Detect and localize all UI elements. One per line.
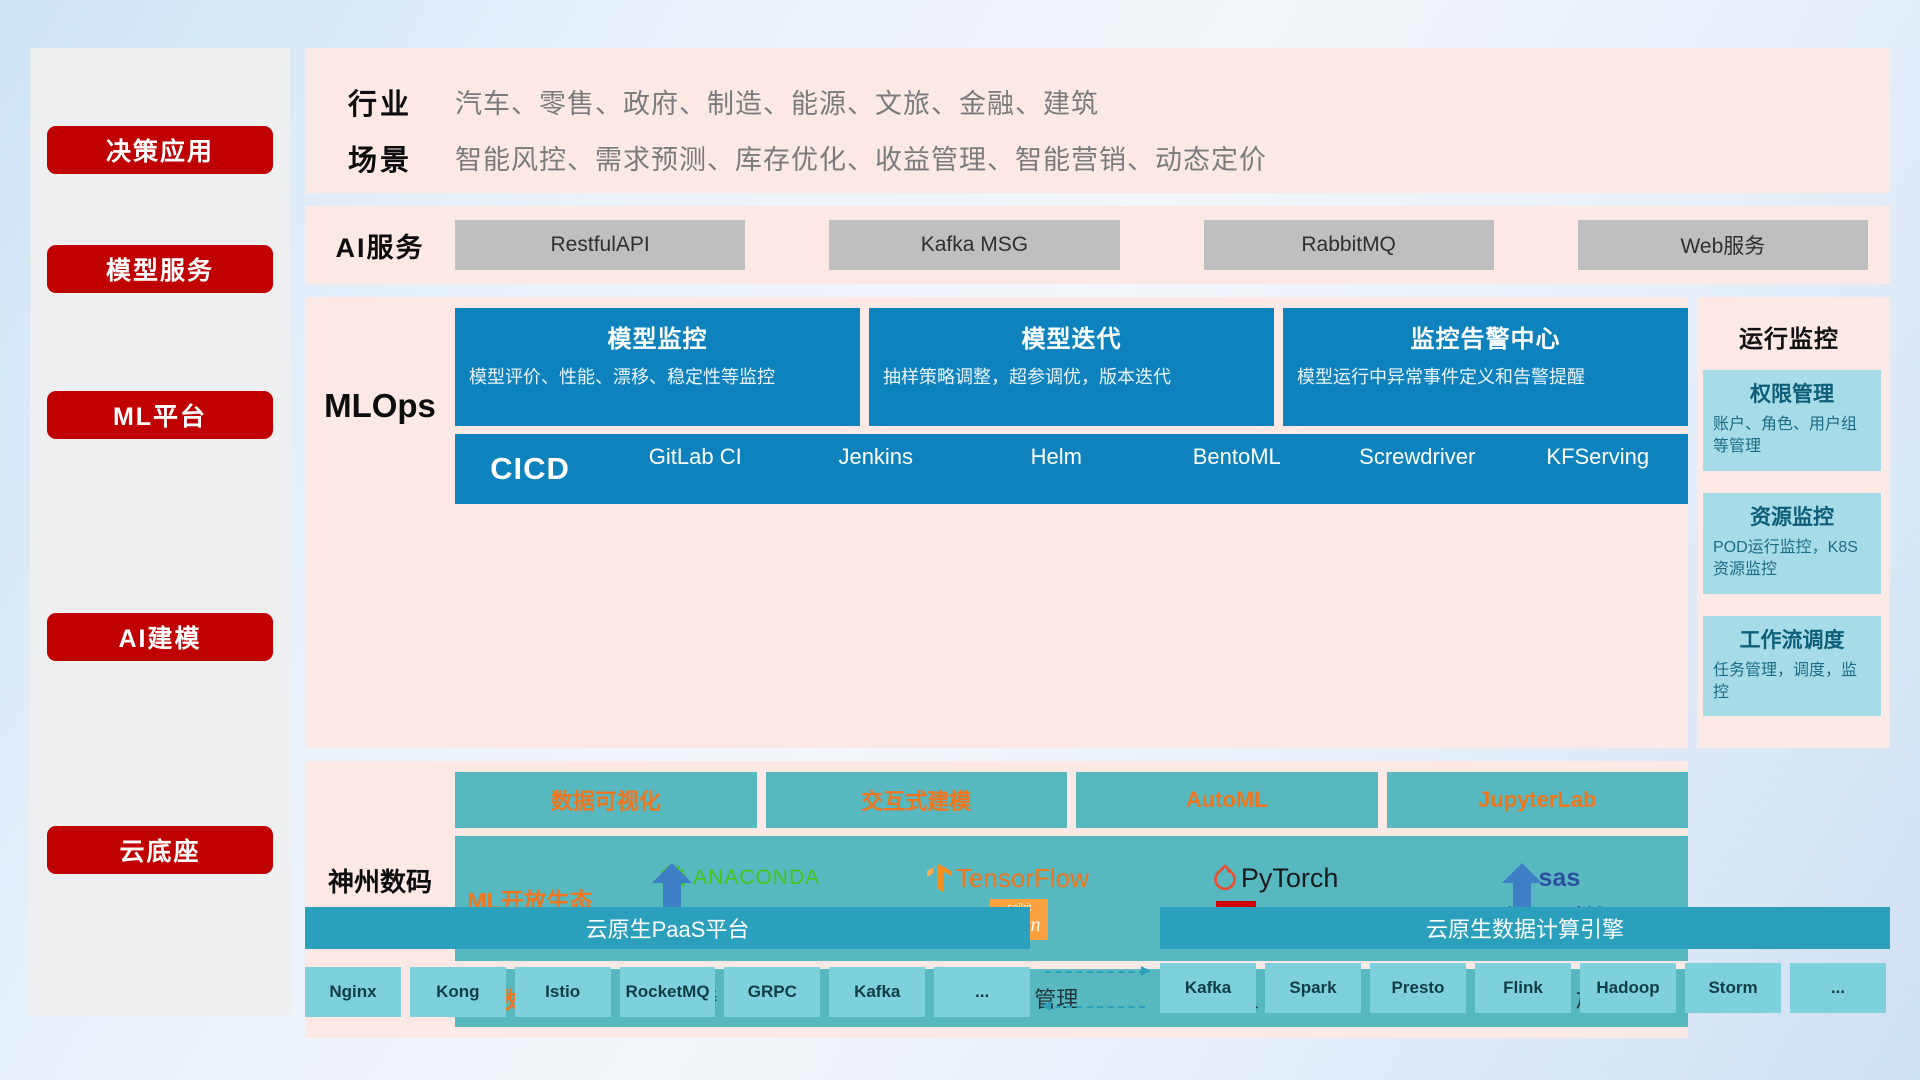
chip-presto[interactable]: Presto bbox=[1370, 963, 1466, 1013]
card-desc: 抽样策略调整，超参调优，版本迭代 bbox=[883, 364, 1260, 390]
card-title: 模型监控 bbox=[469, 319, 846, 354]
monitoring-card-permission[interactable]: 权限管理 账户、角色、用户组等管理 bbox=[1703, 370, 1881, 471]
chip-kafka-r[interactable]: Kafka bbox=[1160, 963, 1256, 1013]
scene-key: 场景 bbox=[305, 137, 455, 179]
monitoring-card-workflow[interactable]: 工作流调度 任务管理，调度，监控 bbox=[1703, 616, 1881, 717]
tab-interactive-modeling[interactable]: 交互式建模 bbox=[766, 772, 1068, 828]
industry-row: 行业 汽车、零售、政府、制造、能源、文旅、金融、建筑 bbox=[305, 74, 1890, 130]
ai-service-band: AI服务 RestfulAPI Kafka MSG RabbitMQ Web服务 bbox=[305, 206, 1890, 284]
cicd-item-jenkins[interactable]: Jenkins bbox=[786, 445, 967, 493]
scene-row: 场景 智能风控、需求预测、库存优化、收益管理、智能营销、动态定价 bbox=[305, 130, 1890, 186]
rail-label: 决策应用 bbox=[106, 132, 214, 168]
cicd-title: CICD bbox=[455, 451, 605, 487]
mlops-card-model-monitor[interactable]: 模型监控 模型评价、性能、漂移、稳定性等监控 bbox=[455, 308, 860, 426]
rail-item-ml-platform[interactable]: ML平台 bbox=[47, 391, 273, 439]
cloud-engine-chips: Kafka Spark Presto Flink Hadoop Storm ..… bbox=[1160, 963, 1890, 1013]
monitoring-sidebar: 运行监控 权限管理 账户、角色、用户组等管理 资源监控 POD运行监控，K8S资… bbox=[1697, 297, 1890, 748]
rail-label: AI建模 bbox=[118, 619, 201, 655]
dashed-arrow-right-icon bbox=[1141, 966, 1151, 976]
chip-grpc[interactable]: GRPC bbox=[724, 967, 820, 1017]
cloud-data-engine-bar[interactable]: 云原生数据计算引擎 bbox=[1160, 907, 1890, 949]
chip-storm[interactable]: Storm bbox=[1685, 963, 1781, 1013]
card-desc: 账户、角色、用户组等管理 bbox=[1713, 414, 1871, 459]
card-title: 资源监控 bbox=[1713, 501, 1871, 531]
ai-service-cell-rabbitmq[interactable]: RabbitMQ bbox=[1204, 220, 1494, 270]
card-title: 监控告警中心 bbox=[1297, 319, 1674, 354]
mlops-card-model-iteration[interactable]: 模型迭代 抽样策略调整，超参调优，版本迭代 bbox=[869, 308, 1274, 426]
chip-rocketmq[interactable]: RocketMQ bbox=[620, 967, 716, 1017]
card-desc: 任务管理，调度，监控 bbox=[1713, 660, 1871, 705]
ai-service-key: AI服务 bbox=[305, 226, 455, 265]
band-gap bbox=[305, 193, 1890, 206]
dashed-arrow-left-icon bbox=[1041, 1001, 1051, 1011]
rail-label: 云底座 bbox=[119, 832, 200, 868]
card-desc: 模型运行中异常事件定义和告警提醒 bbox=[1297, 364, 1674, 390]
mlops-band: MLOps 模型监控 模型评价、性能、漂移、稳定性等监控 模型迭代 抽样策略调整… bbox=[305, 297, 1688, 748]
card-desc: 模型评价、性能、漂移、稳定性等监控 bbox=[469, 364, 846, 390]
arrow-up-left-icon bbox=[650, 863, 694, 909]
ai-service-cells: RestfulAPI Kafka MSG RabbitMQ Web服务 bbox=[455, 220, 1890, 270]
arrow-up-right-icon bbox=[1500, 863, 1544, 909]
cicd-item-gitlab-ci[interactable]: GitLab CI bbox=[605, 445, 786, 493]
card-desc: POD运行监控，K8S资源监控 bbox=[1713, 537, 1871, 582]
card-title: 模型迭代 bbox=[883, 319, 1260, 354]
rail-label: ML平台 bbox=[113, 397, 207, 433]
card-title: 权限管理 bbox=[1713, 378, 1871, 408]
scene-value: 智能风控、需求预测、库存优化、收益管理、智能营销、动态定价 bbox=[455, 138, 1267, 177]
chip-kong[interactable]: Kong bbox=[410, 967, 506, 1017]
cloud-paas-bar[interactable]: 云原生PaaS平台 bbox=[305, 907, 1030, 949]
cicd-item-screwdriver[interactable]: Screwdriver bbox=[1327, 445, 1508, 493]
rail-item-model-service[interactable]: 模型服务 bbox=[47, 245, 273, 293]
chip-more-right[interactable]: ... bbox=[1790, 963, 1886, 1013]
rail-label: 模型服务 bbox=[106, 251, 214, 287]
mlops-and-monitoring: MLOps 模型监控 模型评价、性能、漂移、稳定性等监控 模型迭代 抽样策略调整… bbox=[305, 297, 1890, 748]
rail-item-cloud-base[interactable]: 云底座 bbox=[47, 826, 273, 874]
rail-item-decision[interactable]: 决策应用 bbox=[47, 126, 273, 174]
tab-automl[interactable]: AutoML bbox=[1076, 772, 1378, 828]
chip-kafka[interactable]: Kafka bbox=[829, 967, 925, 1017]
chip-more-left[interactable]: ... bbox=[934, 967, 1030, 1017]
cicd-item-kfserving[interactable]: KFServing bbox=[1508, 445, 1689, 493]
cicd-item-helm[interactable]: Helm bbox=[966, 445, 1147, 493]
cicd-item-bentoml[interactable]: BentoML bbox=[1147, 445, 1328, 493]
ai-service-cell-kafka[interactable]: Kafka MSG bbox=[829, 220, 1119, 270]
chip-flink[interactable]: Flink bbox=[1475, 963, 1571, 1013]
monitoring-title: 运行监控 bbox=[1697, 319, 1881, 354]
industry-key: 行业 bbox=[305, 81, 455, 123]
industry-scene-band: 行业 汽车、零售、政府、制造、能源、文旅、金融、建筑 场景 智能风控、需求预测、… bbox=[305, 48, 1890, 193]
rail-item-ai-modeling[interactable]: AI建模 bbox=[47, 613, 273, 661]
chip-spark[interactable]: Spark bbox=[1265, 963, 1361, 1013]
chip-istio[interactable]: Istio bbox=[515, 967, 611, 1017]
diagram-canvas: 决策应用 模型服务 ML平台 AI建模 云底座 行业 汽车、零售、政府、制造、能… bbox=[0, 0, 1920, 1080]
layer-rail: 决策应用 模型服务 ML平台 AI建模 云底座 bbox=[30, 48, 290, 1016]
chip-hadoop[interactable]: Hadoop bbox=[1580, 963, 1676, 1013]
card-title: 工作流调度 bbox=[1713, 624, 1871, 654]
chip-nginx[interactable]: Nginx bbox=[305, 967, 401, 1017]
mlops-cards: 模型监控 模型评价、性能、漂移、稳定性等监控 模型迭代 抽样策略调整，超参调优，… bbox=[455, 308, 1688, 426]
cloud-paas-chips: Nginx Kong Istio RocketMQ GRPC Kafka ... bbox=[305, 967, 1030, 1017]
ai-service-cell-restfulapi[interactable]: RestfulAPI bbox=[455, 220, 745, 270]
dashed-connector-top bbox=[1045, 971, 1145, 973]
cicd-items: GitLab CI Jenkins Helm BentoML Screwdriv… bbox=[605, 445, 1688, 493]
cicd-row: CICD GitLab CI Jenkins Helm BentoML Scre… bbox=[455, 434, 1688, 504]
mllab-tabs: 数据可视化 交互式建模 AutoML JupyterLab bbox=[455, 772, 1688, 828]
ai-service-cell-web[interactable]: Web服务 bbox=[1578, 220, 1868, 270]
tab-jupyterlab[interactable]: JupyterLab bbox=[1387, 772, 1689, 828]
cloud-base-section: 云原生PaaS平台 云原生数据计算引擎 Nginx Kong Istio Roc… bbox=[305, 885, 1890, 1020]
band-gap bbox=[305, 284, 1890, 297]
band-gap bbox=[305, 748, 1890, 761]
tab-data-visualization[interactable]: 数据可视化 bbox=[455, 772, 757, 828]
mlops-card-alert-center[interactable]: 监控告警中心 模型运行中异常事件定义和告警提醒 bbox=[1283, 308, 1688, 426]
monitoring-card-resource[interactable]: 资源监控 POD运行监控，K8S资源监控 bbox=[1703, 493, 1881, 594]
industry-value: 汽车、零售、政府、制造、能源、文旅、金融、建筑 bbox=[455, 82, 1099, 121]
dashed-connector-bottom bbox=[1045, 1006, 1145, 1008]
mlops-key: MLOps bbox=[305, 308, 455, 504]
